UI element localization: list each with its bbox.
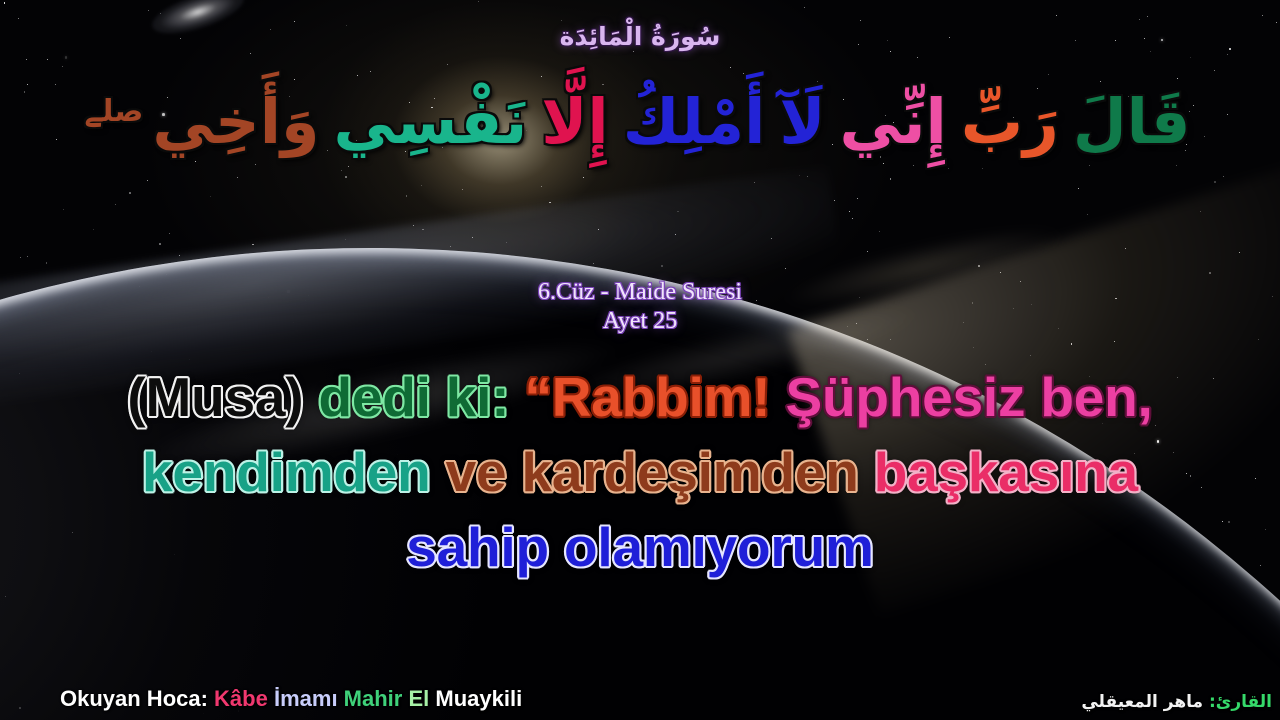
ayah-waqf-mark: صلے — [85, 89, 144, 136]
translation-line: kendimden ve kardeşimden başkasına — [0, 435, 1280, 510]
reciter-credit-left: Okuyan Hoca: Kâbe İmamı Mahir El Muaykil… — [60, 686, 522, 712]
ayah-word: رَبِّ — [961, 74, 1059, 170]
translation-line: (Musa) dedi ki: “Rabbim! Şüphesiz ben, — [0, 360, 1280, 435]
translation-segment: (Musa) — [127, 366, 318, 428]
ayah-word: قَالَ — [1073, 74, 1191, 170]
reciter-credit-segment: Okuyan Hoca: — [60, 686, 214, 711]
translation-segment: kendimden — [142, 441, 446, 503]
ayah-arabic-text: قَالَرَبِّإِنِّيلَآأَمْلِكُإِلَّانَفْسِي… — [0, 74, 1280, 170]
translation-segment: Şüphesiz ben, — [785, 366, 1152, 428]
ayah-word: لَآ — [779, 74, 825, 170]
ayah-word: إِلَّا — [541, 74, 608, 170]
reciter-credit-segment: Mahir — [344, 686, 409, 711]
ayah-word: إِنِّي — [840, 74, 947, 170]
reciter-credit-segment: İmamı — [274, 686, 344, 711]
reciter-credit-segment: Muaykili — [435, 686, 522, 711]
translation-line: sahip olamıyorum — [0, 510, 1280, 585]
reciter-credit-segment: Kâbe — [214, 686, 274, 711]
translation-segment: başkasına — [874, 441, 1138, 503]
reciter-credit-right: القارئ: ماهر المعيقلي — [1081, 692, 1272, 712]
surah-name-arabic: سُورَةُ الْمَائِدَة — [0, 22, 1280, 51]
ayah-word: نَفْسِي — [334, 74, 528, 170]
translation-turkish: (Musa) dedi ki: “Rabbim! Şüphesiz ben,ke… — [0, 360, 1280, 584]
reference-line-1: 6.Cüz - Maide Suresi — [0, 278, 1280, 307]
reciter-credit-segment: El — [408, 686, 435, 711]
translation-segment: dedi ki: — [318, 366, 524, 428]
ayah-word: وَأَخِي — [152, 74, 319, 170]
reciter-credit-segment: القارئ: — [1203, 692, 1272, 712]
translation-segment: “Rabbim! — [524, 366, 785, 428]
ayah-reference: 6.Cüz - Maide Suresi Ayet 25 — [0, 278, 1280, 337]
video-frame: سُورَةُ الْمَائِدَة قَالَرَبِّإِنِّيلَآأ… — [0, 0, 1280, 720]
text-overlay: سُورَةُ الْمَائِدَة قَالَرَبِّإِنِّيلَآأ… — [0, 0, 1280, 720]
reciter-credit-segment: ماهر المعيقلي — [1081, 692, 1203, 712]
ayah-word: أَمْلِكُ — [623, 74, 766, 170]
translation-segment: sahip olamıyorum — [406, 516, 873, 578]
reference-line-2: Ayet 25 — [0, 307, 1280, 336]
translation-segment: ve kardeşimden — [446, 441, 874, 503]
